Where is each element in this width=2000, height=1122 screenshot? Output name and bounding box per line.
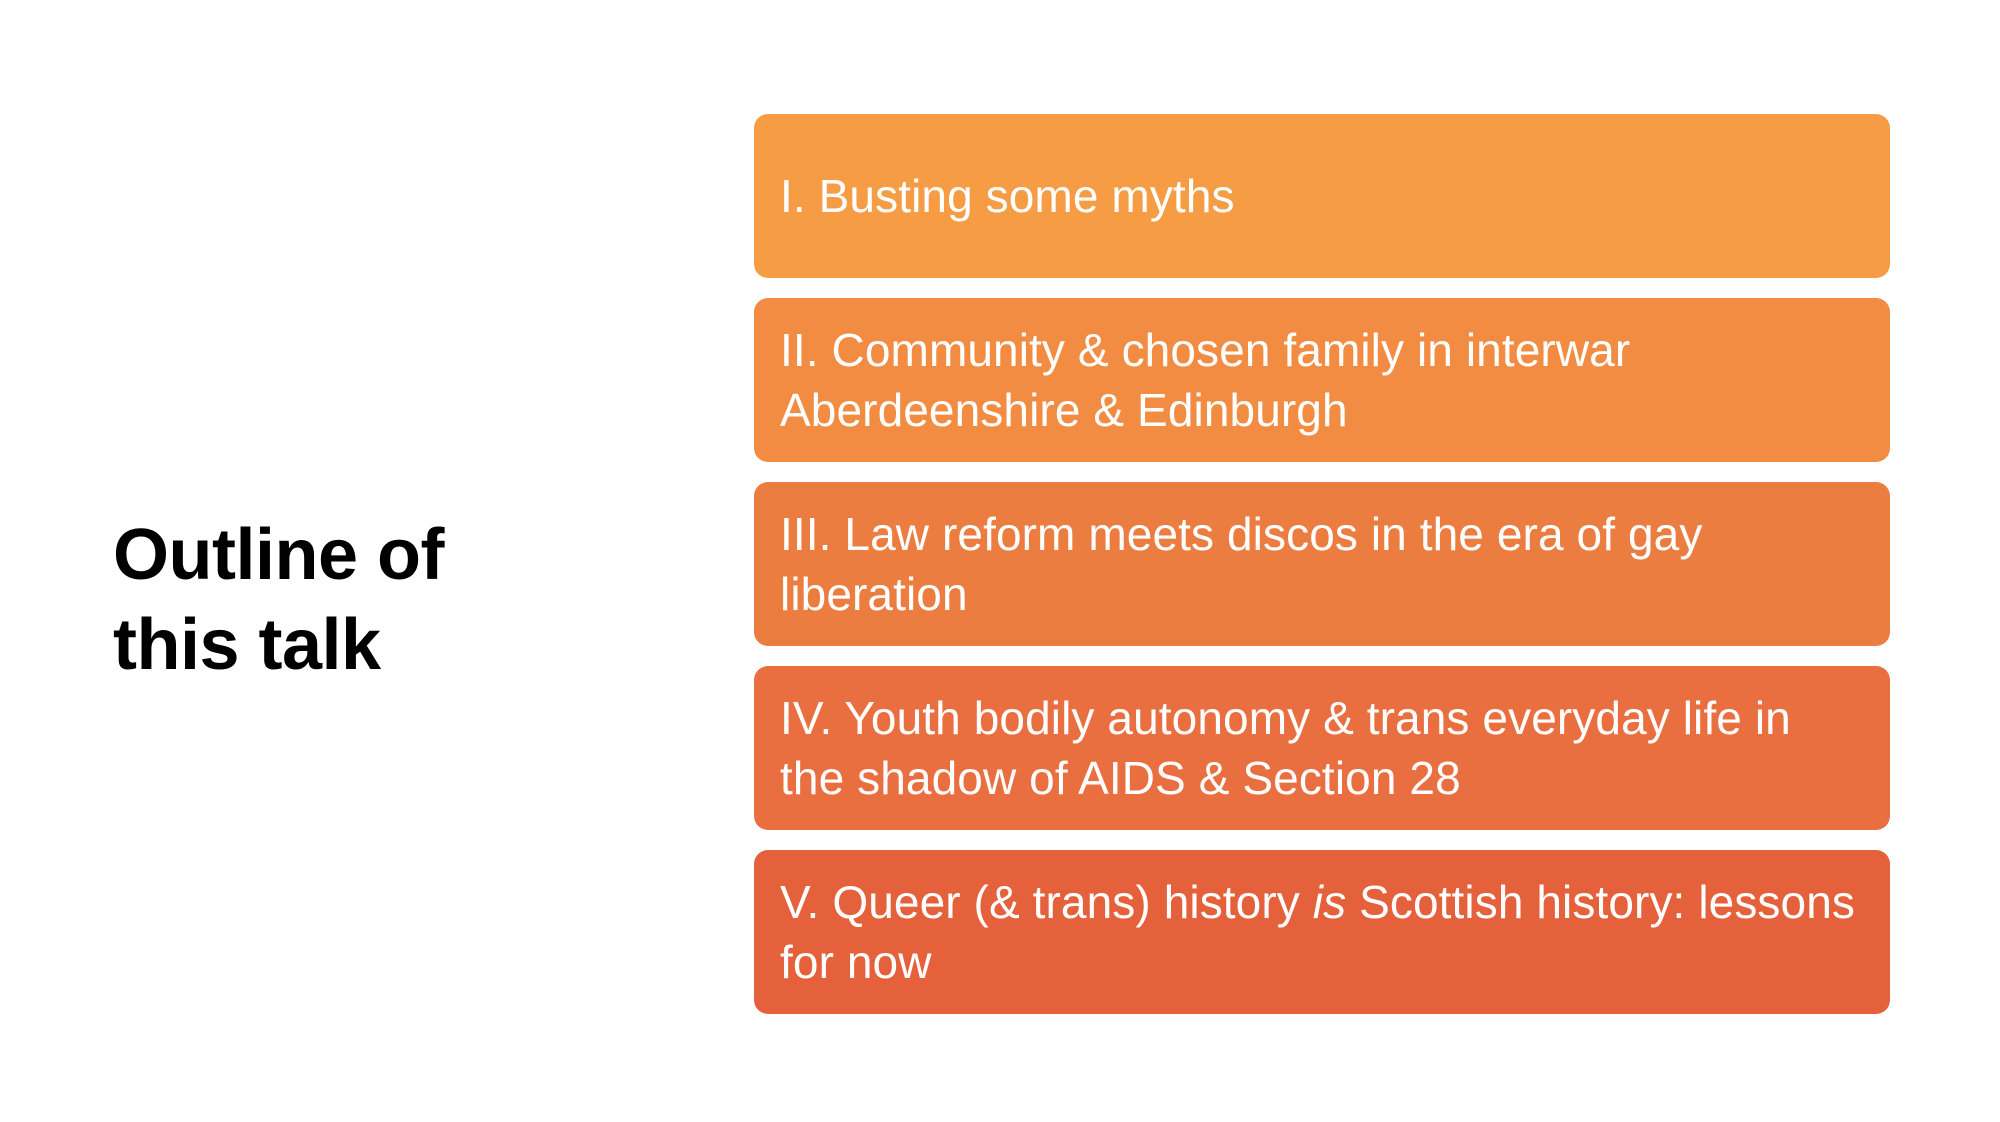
outline-item-2[interactable]: II. Community & chosen family in interwa… — [754, 298, 1890, 462]
presentation-slide: Outline of this talk I. Busting some myt… — [0, 0, 2000, 1122]
outline-item-5-label: V. Queer (& trans) history is Scottish h… — [780, 872, 1864, 992]
page-title: Outline of this talk — [113, 510, 673, 690]
outline-item-1-label: I. Busting some myths — [780, 166, 1864, 226]
outline-item-5[interactable]: V. Queer (& trans) history is Scottish h… — [754, 850, 1890, 1014]
outline-item-4[interactable]: IV. Youth bodily autonomy & trans everyd… — [754, 666, 1890, 830]
outline-item-3[interactable]: III. Law reform meets discos in the era … — [754, 482, 1890, 646]
outline-item-2-label: II. Community & chosen family in interwa… — [780, 320, 1864, 440]
outline-item-4-label: IV. Youth bodily autonomy & trans everyd… — [780, 688, 1864, 808]
outline-item-3-label: III. Law reform meets discos in the era … — [780, 504, 1864, 624]
outline-item-1[interactable]: I. Busting some myths — [754, 114, 1890, 278]
outline-list: I. Busting some myths II. Community & ch… — [754, 114, 1890, 1014]
